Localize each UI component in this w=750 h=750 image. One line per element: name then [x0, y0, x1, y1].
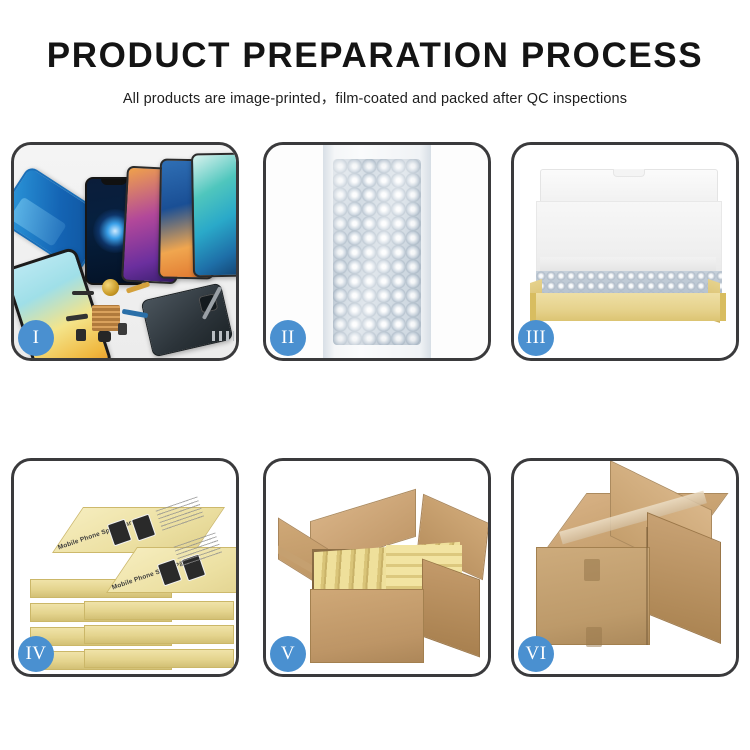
carton-front-face	[310, 589, 424, 663]
header: PRODUCT PREPARATION PROCESS All products…	[0, 0, 750, 108]
panel-step-3: III	[511, 142, 739, 361]
stacked-box-front-3	[84, 649, 234, 668]
panel-step-5: V	[263, 458, 491, 677]
phone-screen-teal	[191, 153, 236, 278]
box-stack: Mobile Phone Spare Parts Mobile Phone Sp…	[26, 483, 230, 669]
small-component-1	[76, 329, 86, 341]
process-grid: I II	[11, 142, 739, 678]
stacked-box-front-1	[84, 601, 234, 620]
chip-array-part	[92, 305, 120, 331]
screws-part	[212, 331, 234, 341]
step-badge-2: II	[270, 320, 306, 356]
step-badge-6: VI	[518, 636, 554, 672]
page-title: PRODUCT PREPARATION PROCESS	[0, 38, 750, 73]
small-component-3	[118, 323, 127, 335]
bubble-wrap-pouch	[323, 145, 431, 358]
step-badge-5: V	[270, 636, 306, 672]
step-badge-3: III	[518, 320, 554, 356]
mailer-bubble-contents	[536, 271, 722, 295]
step-badge-1: I	[18, 320, 54, 356]
carton-hand-hole-2	[586, 627, 602, 647]
infographic-page: PRODUCT PREPARATION PROCESS All products…	[0, 0, 750, 750]
sealed-carton-edge-seam	[646, 527, 648, 645]
phone-rear-housing	[141, 283, 234, 358]
small-component-2	[98, 331, 111, 342]
mailer-front-kraft	[530, 293, 726, 321]
page-subtitle: All products are image-printed，film-coat…	[0, 87, 750, 108]
panel-step-4: Mobile Phone Spare Parts Mobile Phone Sp…	[11, 458, 239, 677]
bubble-sheen	[333, 159, 421, 345]
step-badge-4: IV	[18, 636, 54, 672]
stacked-box-front-2	[84, 625, 234, 644]
speaker-coil-part	[102, 279, 119, 296]
flex-cable-part-1	[72, 291, 94, 295]
panel-step-1: I	[11, 142, 239, 361]
panel-step-6: VI	[511, 458, 739, 677]
panel-step-2: II	[263, 142, 491, 361]
carton-hand-hole-1	[584, 559, 600, 581]
